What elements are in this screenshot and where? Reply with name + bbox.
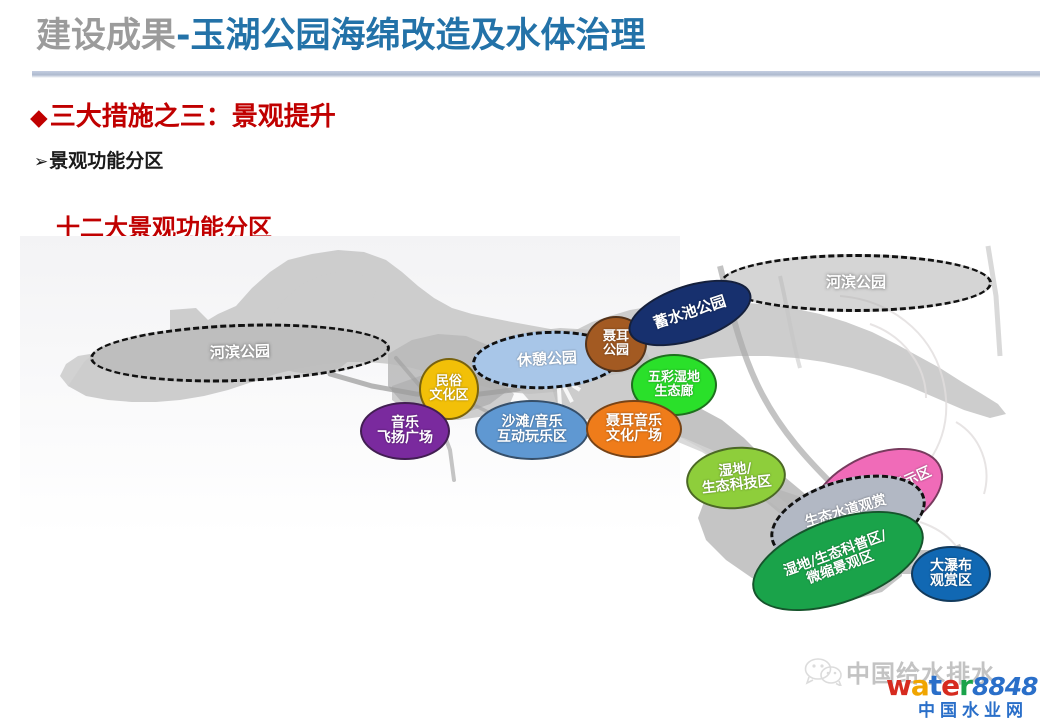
wechat-icon <box>804 656 844 686</box>
map-zone-label: 民俗文化区 <box>429 375 468 402</box>
diamond-bullet-icon: ◆ <box>30 105 48 131</box>
map-zone-label: 蓄水池公园 <box>652 294 728 332</box>
map-zone-label: 沙滩/音乐互动玩乐区 <box>497 415 567 444</box>
map-zone-beach-music-zone: 沙滩/音乐互动玩乐区 <box>475 400 589 460</box>
map-zone-music-plaza: 音乐飞扬广场 <box>360 402 450 460</box>
brand-letter-w: w <box>886 669 911 702</box>
map-zone-label: 湿地/生态科技区 <box>700 460 773 497</box>
title-divider <box>32 71 1040 78</box>
page-title-prefix: 建设成果 <box>36 16 176 56</box>
watermark: 中国给水排水 water8848.com 中国水业网 <box>800 648 1040 714</box>
page-title-main: -玉湖公园海绵改造及水体治理 <box>176 16 646 56</box>
bullet-level1: ◆三大措施之三：景观提升 <box>30 96 336 133</box>
map-zone-label: 休憩公园 <box>517 351 578 370</box>
map-zone-label: 聂耳音乐文化广场 <box>606 414 662 443</box>
map-zone-nie-er-music-plaza: 聂耳音乐文化广场 <box>586 400 682 458</box>
bullet-level1-label: 三大措施之三：景观提升 <box>50 102 336 132</box>
map-zone-label: 湿地/生态科普区/微缩景观区 <box>782 529 894 594</box>
map-zone-label: 五彩湿地生态廊 <box>648 371 700 398</box>
map-zone-label: 河滨公园 <box>210 344 271 362</box>
slide-root: 建设成果-玉湖公园海绵改造及水体治理 ◆三大措施之三：景观提升 ➢景观功能分区 … <box>0 0 1040 720</box>
page-title: 建设成果-玉湖公园海绵改造及水体治理 <box>36 16 646 56</box>
map-zone-riverside-park-east: 河滨公园 <box>720 254 992 312</box>
map-zone-label: 河滨公园 <box>826 275 886 291</box>
map-zone-label: 聂耳公园 <box>603 330 629 357</box>
map-zone-label: 音乐飞扬广场 <box>377 416 433 445</box>
map-zone-waterfall-view-zone: 大瀑布观赏区 <box>911 546 991 602</box>
bullet-level2-label: 景观功能分区 <box>49 150 163 172</box>
watermark-cn-bottom: 中国水业网 <box>918 696 1028 721</box>
bullet-level2: ➢景观功能分区 <box>34 146 163 173</box>
map-zone-label: 大瀑布观赏区 <box>930 559 972 588</box>
landscape-zoning-map: 河滨公园河滨公园民俗文化区休憩公园聂耳公园蓄水池公园五彩湿地生态廊音乐飞扬广场沙… <box>20 236 1020 656</box>
arrow-bullet-icon: ➢ <box>34 152 48 172</box>
